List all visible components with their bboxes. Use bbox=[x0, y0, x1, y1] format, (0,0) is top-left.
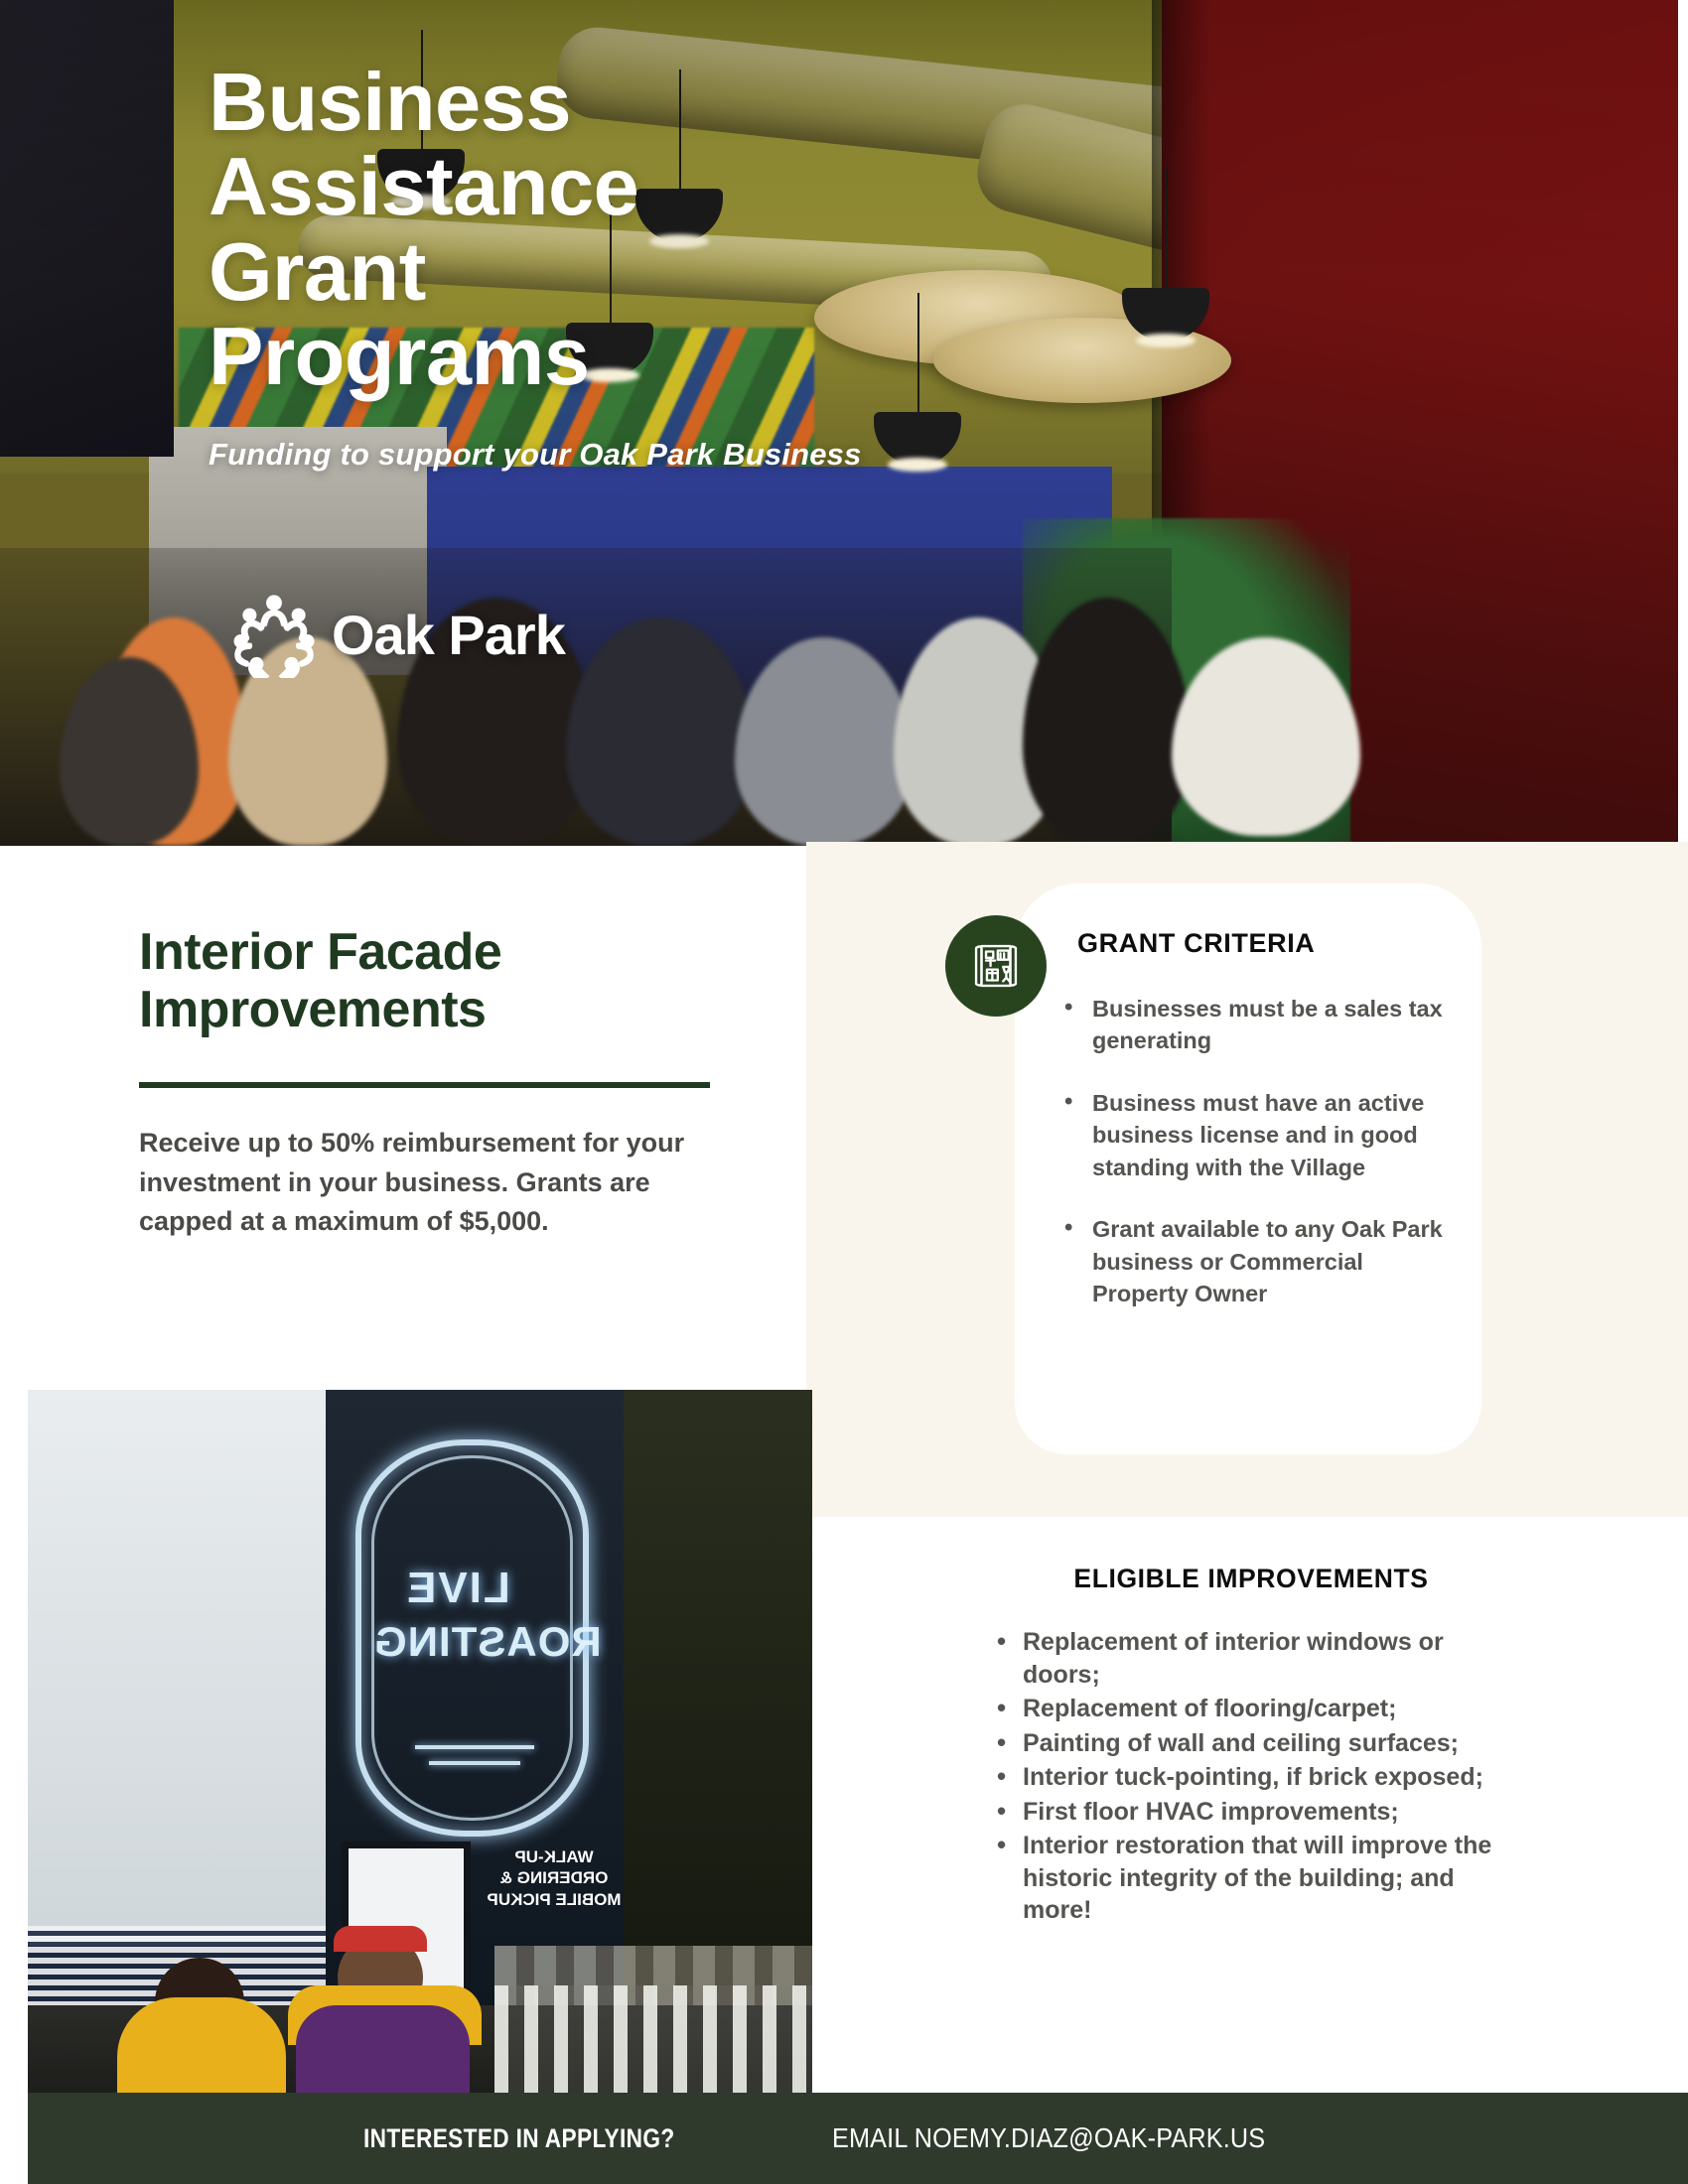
oak-park-logo: Oak Park bbox=[230, 591, 565, 678]
list-item: Businesses must be a sales tax generatin… bbox=[1060, 993, 1458, 1057]
list-item: Replacement of flooring/carpet; bbox=[993, 1693, 1509, 1725]
neon-sign-line-2: ROASTING bbox=[373, 1618, 602, 1666]
grant-criteria-list: Businesses must be a sales tax generatin… bbox=[1060, 993, 1458, 1339]
interior-facade-section: Interior Facade Improvements Receive up … bbox=[139, 923, 735, 1242]
hero-title-line-1: Business bbox=[209, 60, 1102, 144]
neon-sign-line-1: LIVE bbox=[405, 1564, 510, 1613]
hero-title-line-4: Programs bbox=[209, 314, 1102, 398]
list-item: Interior restoration that will improve t… bbox=[993, 1830, 1509, 1927]
grant-criteria-heading: GRANT CRITERIA bbox=[1077, 928, 1315, 959]
section-title-line-1: Interior Facade bbox=[139, 923, 501, 981]
walk-up-ordering-sign: WALK-UP ORDERING & MOBILE PICKUP bbox=[480, 1846, 629, 1910]
list-item: Replacement of interior windows or doors… bbox=[993, 1626, 1509, 1691]
eligible-improvements-section: ELIGIBLE IMPROVEMENTS Replacement of int… bbox=[993, 1564, 1509, 1929]
footer-cta-text: INTERESTED IN APPLYING? bbox=[363, 2123, 675, 2154]
hero-banner: Business Assistance Grant Programs Fundi… bbox=[0, 0, 1678, 846]
footer-bar: INTERESTED IN APPLYING? EMAIL NOEMY.DIAZ… bbox=[28, 2093, 1688, 2184]
eligible-improvements-list: Replacement of interior windows or doors… bbox=[993, 1626, 1509, 1927]
list-item: Interior tuck-pointing, if brick exposed… bbox=[993, 1761, 1509, 1794]
section-lead-text: Receive up to 50% reimbursement for your… bbox=[139, 1124, 735, 1241]
oak-park-logo-text: Oak Park bbox=[332, 603, 565, 667]
list-item: First floor HVAC improvements; bbox=[993, 1796, 1509, 1829]
flyer-page: Business Assistance Grant Programs Fundi… bbox=[0, 0, 1688, 2184]
eligible-improvements-heading: ELIGIBLE IMPROVEMENTS bbox=[993, 1564, 1509, 1594]
hero-title-line-3: Grant bbox=[209, 229, 1102, 314]
list-item: Painting of wall and ceiling surfaces; bbox=[993, 1727, 1509, 1760]
blueprint-floorplan-icon bbox=[945, 915, 1047, 1017]
footer-email-text[interactable]: EMAIL NOEMY.DIAZ@OAK-PARK.US bbox=[832, 2122, 1265, 2154]
hero-subtitle: Funding to support your Oak Park Busines… bbox=[209, 437, 1102, 473]
hero-title: Business Assistance Grant Programs bbox=[209, 60, 1102, 399]
section-title: Interior Facade Improvements bbox=[139, 923, 735, 1038]
coffee-shop-photo: LIVE ROASTING WALK-UP ORDERING & MOBILE … bbox=[28, 1390, 812, 2115]
list-item: Business must have an active business li… bbox=[1060, 1087, 1458, 1183]
hero-title-line-2: Assistance bbox=[209, 144, 1102, 228]
hero-heading-block: Business Assistance Grant Programs Fundi… bbox=[209, 60, 1102, 473]
oak-park-people-circle-logo-icon bbox=[230, 591, 318, 678]
list-item: Grant available to any Oak Park business… bbox=[1060, 1213, 1458, 1309]
section-title-line-2: Improvements bbox=[139, 981, 486, 1038]
title-divider bbox=[139, 1082, 710, 1088]
